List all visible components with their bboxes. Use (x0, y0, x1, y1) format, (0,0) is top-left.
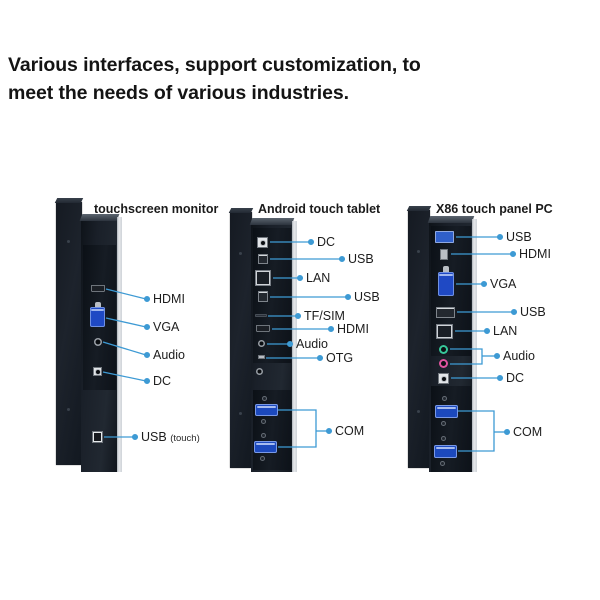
callout-label-usb-touch: USB (touch) (141, 430, 200, 444)
port-usb-touch (92, 431, 103, 443)
product-panel-android-touch-tablet: Android touch tablet (228, 190, 418, 480)
port-com-2 (434, 445, 457, 458)
headline-text: Various interfaces, support customizatio… (8, 52, 568, 107)
port-lan (255, 270, 271, 286)
port-hdmi (440, 249, 448, 260)
device-front-face-top (428, 216, 475, 223)
com-screw (260, 456, 265, 461)
device-rear-slab (408, 210, 430, 468)
callout-label-hdmi: HDMI (337, 322, 369, 336)
com-screw (261, 419, 266, 424)
product-panel-touchscreen-monitor: touchscreen monitor (50, 190, 235, 480)
port-tf-sim-slot (255, 314, 267, 317)
callout-label-com: COM (335, 424, 364, 438)
callout-label-otg: OTG (326, 351, 353, 365)
port-dc (438, 373, 449, 384)
io-plate-lower (431, 386, 471, 472)
callout-label-audio: Audio (296, 337, 328, 351)
port-usb-dual-3-0 (435, 231, 454, 243)
port-extra-jack (256, 368, 263, 375)
port-dc (93, 367, 102, 376)
panel-title-android-touch-tablet: Android touch tablet (258, 202, 380, 216)
port-otg (258, 355, 265, 359)
port-hdmi (256, 325, 270, 332)
com-screw (440, 461, 445, 466)
port-com-1 (255, 404, 278, 416)
panel-title-x86-touch-panel-pc: X86 touch panel PC (436, 202, 553, 216)
port-audio-line-out (439, 345, 448, 354)
port-usb-dual-2-0 (436, 307, 455, 318)
io-plate-lower (253, 390, 291, 470)
port-usb-second (258, 291, 268, 302)
product-panel-x86-touch-panel-pc: X86 touch panel PC (406, 190, 600, 480)
callout-label-usb-1: USB (506, 230, 532, 244)
screw-dot (417, 410, 420, 413)
port-audio-mic-in (439, 359, 448, 368)
device-front-face-top (250, 218, 295, 225)
screw-dot (239, 412, 242, 415)
screw-dot (67, 240, 70, 243)
callout-label-hdmi: HDMI (519, 247, 551, 261)
callout-label-usb-2: USB (520, 305, 546, 319)
callout-label-vga: VGA (153, 320, 179, 334)
callout-label-audio: Audio (503, 349, 535, 363)
device-screen-edge (292, 221, 297, 472)
callout-label-com: COM (513, 425, 542, 439)
callout-label-dc: DC (317, 235, 335, 249)
port-com-2 (254, 441, 277, 453)
callout-label-usb-2: USB (354, 290, 380, 304)
device-rear-slab-top (229, 208, 253, 213)
device-screen-edge (472, 219, 477, 472)
port-com-1 (435, 405, 458, 418)
port-audio-jack (258, 340, 265, 347)
callout-label-tf-sim: TF/SIM (304, 309, 345, 323)
port-dc (257, 237, 268, 248)
com-screw (261, 433, 266, 438)
callout-label-vga: VGA (490, 277, 516, 291)
port-vga (438, 272, 454, 296)
headline-line-1: Various interfaces, support customizatio… (8, 52, 568, 80)
callout-label-lan: LAN (493, 324, 517, 338)
com-screw (442, 396, 447, 401)
port-audio-jack (94, 338, 102, 346)
device-screen-edge (117, 217, 122, 472)
device-front-face-top (80, 214, 120, 221)
port-hdmi (91, 285, 105, 292)
port-usb-top (258, 254, 268, 264)
callout-label-dc: DC (506, 371, 524, 385)
headline-line-2: meet the needs of various industries. (8, 80, 568, 108)
screw-dot (417, 250, 420, 253)
screw-dot (67, 408, 70, 411)
device-rear-slab-top (407, 206, 431, 211)
com-screw (441, 436, 446, 441)
callout-label-lan: LAN (306, 271, 330, 285)
device-rear-slab (230, 212, 252, 468)
port-lan (436, 324, 453, 339)
device-rear-slab-top (55, 198, 83, 203)
port-vga (90, 307, 105, 327)
callout-label-dc: DC (153, 374, 171, 388)
com-screw (262, 396, 267, 401)
callout-label-hdmi: HDMI (153, 292, 185, 306)
callout-label-usb-1: USB (348, 252, 374, 266)
callout-label-audio: Audio (153, 348, 185, 362)
com-screw (441, 421, 446, 426)
screw-dot (239, 252, 242, 255)
